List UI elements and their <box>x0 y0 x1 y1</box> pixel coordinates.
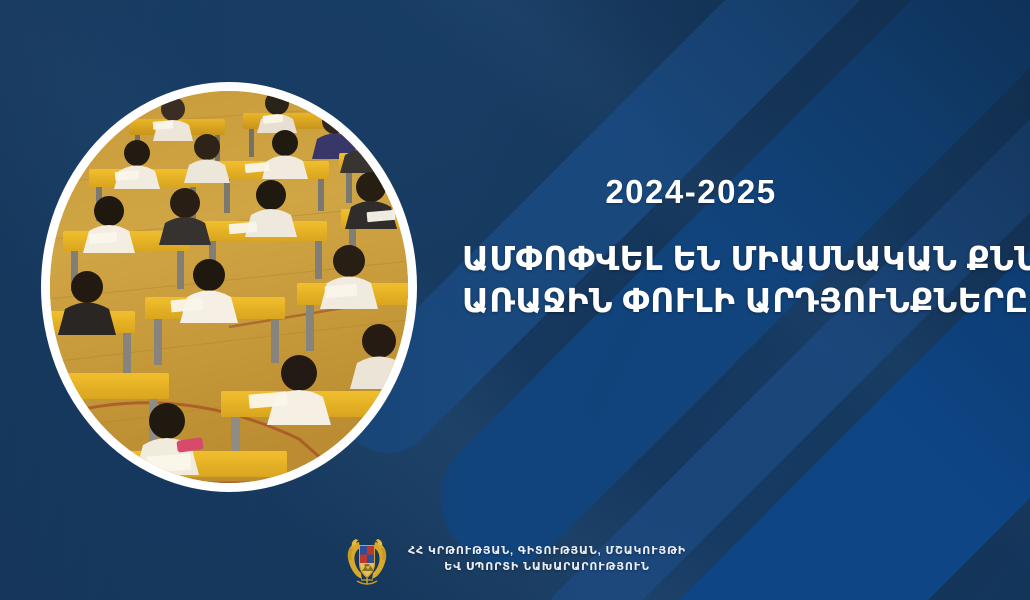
ministry-name: ՀՀ ԿՐԹՈՒԹՅԱՆ, ԳԻՏՈՒԹՅԱՆ, ՄՇԱԿՈՒՅԹԻ ԵՎ ՍՊ… <box>408 544 686 576</box>
exam-photo <box>50 91 408 483</box>
exam-photo-frame <box>41 82 417 492</box>
exam-hall-illustration <box>50 91 408 483</box>
ministry-line-1: ՀՀ ԿՐԹՈՒԹՅԱՆ, ԳԻՏՈՒԹՅԱՆ, ՄՇԱԿՈՒՅԹԻ <box>408 544 686 560</box>
footer: ՀՀ ԿՐԹՈՒԹՅԱՆ, ԳԻՏՈՒԹՅԱՆ, ՄՇԱԿՈՒՅԹԻ ԵՎ ՍՊ… <box>0 534 1030 586</box>
academic-year: 2024-2025 <box>462 175 1030 208</box>
page-title: ԱՄՓՈՓՎԵԼ ԵՆ ՄԻԱՍՆԱԿԱՆ ՔՆՆՈՒԹՅՈՒՆՆ ԱՌԱՋԻՆ… <box>462 238 1030 322</box>
coat-of-arms-icon <box>344 534 390 586</box>
page-title-line-2: ԱՌԱՋԻՆ ՓՈՒԼԻ ԱՐԴՅՈՒՆՔՆԵՐԸ <box>462 280 1030 322</box>
page-title-line-1: ԱՄՓՈՓՎԵԼ ԵՆ ՄԻԱՍՆԱԿԱՆ ՔՆՆՈՒԹՅՈՒՆՆ <box>462 238 1030 280</box>
ministry-line-2: ԵՎ ՍՊՈՐՏԻ ՆԱԽԱՐԱՐՈՒԹՅՈՒՆ <box>408 560 686 576</box>
headline-block: 2024-2025 ԱՄՓՈՓՎԵԼ ԵՆ ՄԻԱՍՆԱԿԱՆ ՔՆՆՈՒԹՅՈ… <box>462 175 1030 322</box>
armenia-coat-of-arms <box>344 534 390 586</box>
banner-root: 2024-2025 ԱՄՓՈՓՎԵԼ ԵՆ ՄԻԱՍՆԱԿԱՆ ՔՆՆՈՒԹՅՈ… <box>0 0 1030 600</box>
